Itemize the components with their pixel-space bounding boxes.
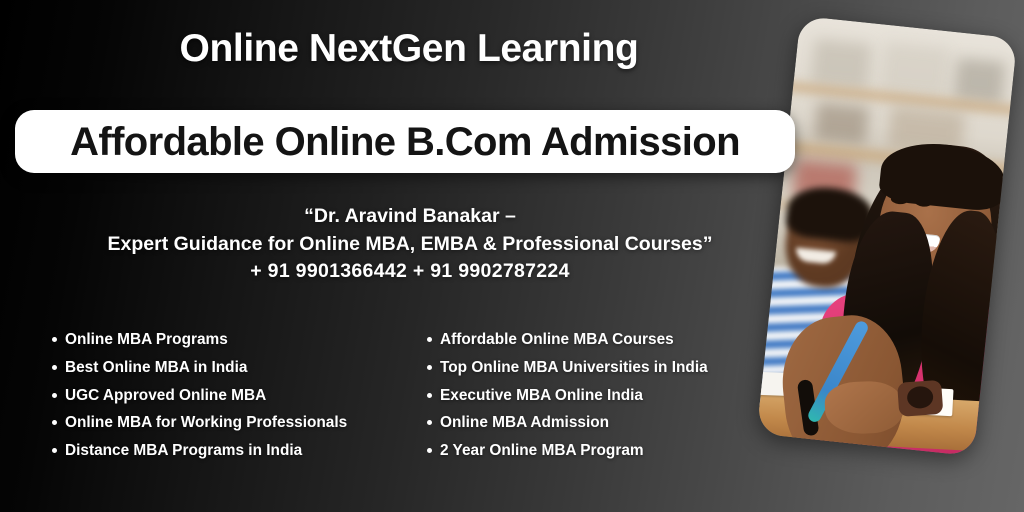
list-item: Distance MBA Programs in India <box>44 443 409 458</box>
wristwatch <box>897 380 943 417</box>
phone-numbers: + 91 9901366442 + 91 9902787224 <box>0 258 820 286</box>
quote-block: “Dr. Aravind Banakar – Expert Guidance f… <box>0 203 820 286</box>
quote-line-2: Expert Guidance for Online MBA, EMBA & P… <box>0 231 820 259</box>
background-blur-block <box>954 58 1006 105</box>
brand-title: Online NextGen Learning <box>0 27 818 71</box>
student-hand <box>824 380 904 435</box>
list-item: Online MBA Programs <box>44 332 409 347</box>
list-item: Executive MBA Online India <box>419 388 784 403</box>
background-blur-block <box>880 42 950 99</box>
keyword-list-right: Affordable Online MBA CoursesTop Online … <box>419 332 784 471</box>
list-item: UGC Approved Online MBA <box>44 388 409 403</box>
headline-text: Affordable Online B.Com Admission <box>70 122 740 162</box>
list-item: Best Online MBA in India <box>44 360 409 375</box>
promo-banner: Online NextGen Learning Affordable Onlin… <box>0 0 1024 512</box>
list-item: Online MBA Admission <box>419 415 784 430</box>
background-blur-block <box>814 102 870 145</box>
headline-banner: Affordable Online B.Com Admission <box>15 110 795 173</box>
list-item: Online MBA for Working Professionals <box>44 415 409 430</box>
quote-line-1: “Dr. Aravind Banakar – <box>0 203 820 231</box>
list-item: Affordable Online MBA Courses <box>419 332 784 347</box>
list-item: Top Online MBA Universities in India <box>419 360 784 375</box>
keyword-list-left: Online MBA ProgramsBest Online MBA in In… <box>44 332 409 471</box>
list-item: 2 Year Online MBA Program <box>419 443 784 458</box>
background-blur-block <box>811 38 872 90</box>
keyword-lists: Online MBA ProgramsBest Online MBA in In… <box>44 332 784 471</box>
